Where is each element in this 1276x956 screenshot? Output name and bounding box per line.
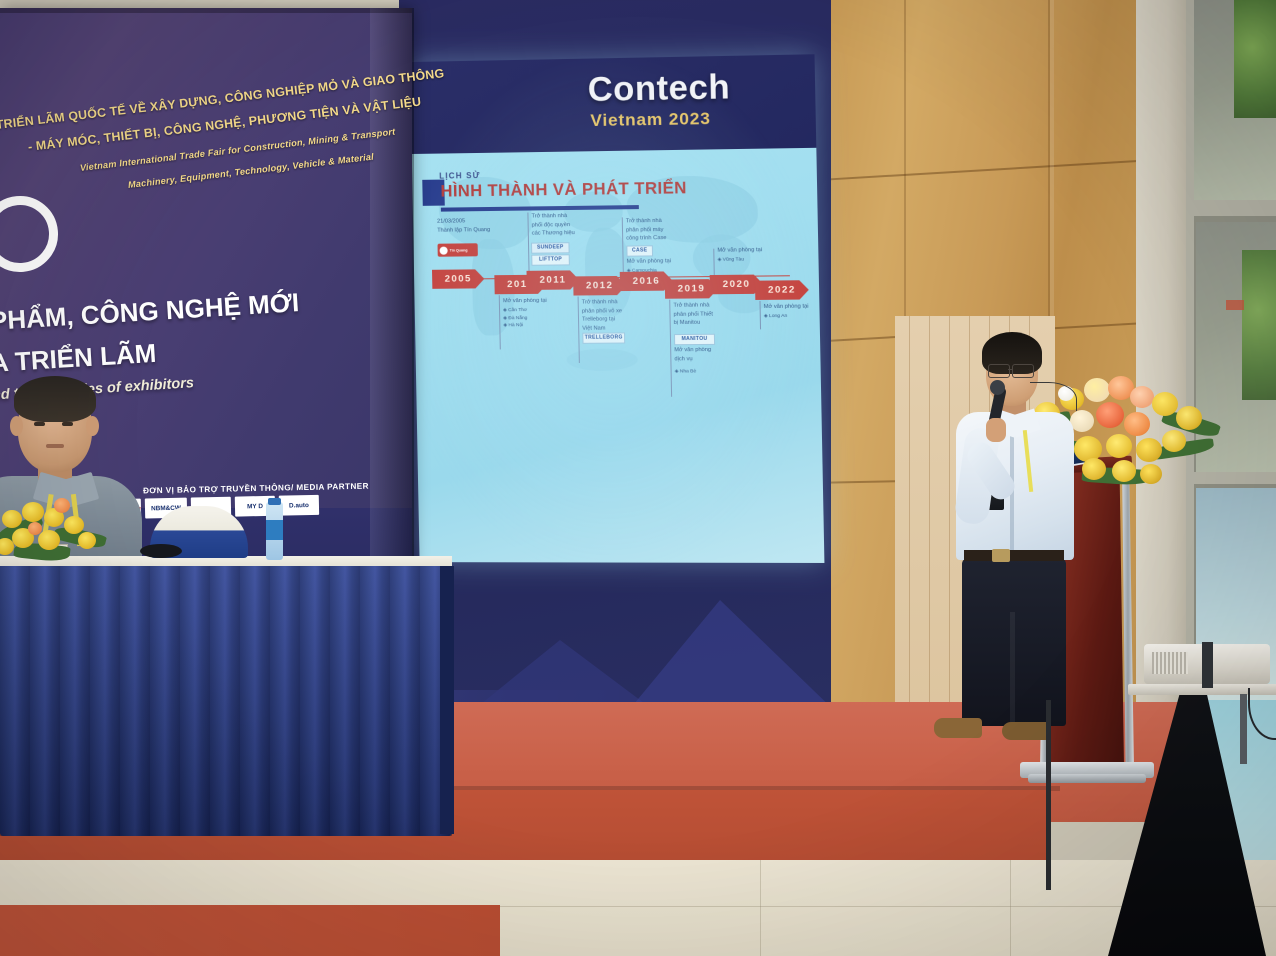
slide-eyebrow: LỊCH SỬ — [439, 171, 481, 181]
timeline-note-2020: Mở văn phòng tại — [717, 246, 762, 255]
table-flower-arrangement — [0, 494, 120, 564]
computer-mouse — [140, 544, 182, 558]
timeline-bullets-2020: ◈ Vũng Tàu — [718, 256, 745, 264]
podium-rail-right — [1122, 466, 1134, 770]
timeline-bullets-2010: ◈ Cần Thơ ◈ Đà Nẵng ◈ Hà Nội — [503, 307, 528, 330]
microphone-head — [990, 380, 1005, 395]
timeline-chip-2011: 2011 — [527, 270, 580, 290]
projector-vent — [1152, 652, 1188, 674]
speaker-eyeglass-left — [988, 364, 1010, 378]
sponsor-logo: D.auto — [279, 495, 319, 516]
timeline-note-2011: Trở thành nhà phối độc quyền các Thương … — [531, 212, 574, 239]
speaker-eyeglass-right — [1012, 364, 1034, 378]
projector-stand-pole — [1240, 694, 1247, 764]
timeline-note-2005: 21/03/2005 Thành lập Tín Quang — [437, 217, 490, 235]
water-bottle-label — [266, 520, 283, 540]
timeline-bullets-2022: ◈ Long An — [764, 313, 787, 321]
timeline-brand-2016: CASE — [626, 245, 653, 256]
seated-panelist-ear-left — [10, 416, 23, 436]
timeline-logo-2005: Tín Quang — [438, 243, 478, 256]
speaker-eyeglass-bridge — [1008, 369, 1013, 370]
conference-photo-scene: Contech Vietnam 2023 LỊCH SỬ HÌNH THÀNH … — [0, 0, 1276, 956]
history-timeline: 21/03/2005 Thành lập Tín Quang Tín Quang… — [413, 207, 825, 563]
speaker-hand — [986, 418, 1006, 442]
speaker-presenter — [930, 332, 1058, 760]
timeline-chip-2012: 2012 — [573, 276, 626, 296]
timeline-note2-2016: Mở văn phòng tại — [627, 257, 672, 266]
seated-panelist-hair — [14, 376, 96, 422]
speaker-belt-buckle — [992, 549, 1010, 562]
seated-panelist-eye-right — [62, 422, 73, 426]
timeline-note-2016: Trở thành nhà phân phối máy công trình C… — [626, 217, 667, 244]
timeline-note-2022: Mở văn phòng tại — [764, 303, 809, 312]
speaker-shoe-left — [934, 718, 982, 738]
panel-table-skirt-shading — [0, 566, 452, 836]
projector-strap — [1202, 642, 1213, 688]
slide-title: HÌNH THÀNH VÀ PHÁT TRIỂN — [440, 179, 687, 201]
panel-table-skirt-side — [440, 566, 454, 834]
timeline-chip-2022: 2022 — [755, 280, 809, 300]
timeline-bullets-2019: ◈ Nha Bè — [675, 368, 697, 376]
projector-unit — [1144, 640, 1276, 692]
timeline-logo-2005-text: Tín Quang — [450, 248, 468, 252]
wall-pillar — [1136, 0, 1188, 720]
seated-panelist-eye-left — [34, 422, 45, 426]
seated-panelist-mouth — [46, 444, 64, 448]
speaker-leg-separation — [1010, 612, 1015, 724]
floor-red-carpet — [0, 905, 500, 956]
banner-fold-shadow — [370, 8, 414, 568]
slide-brand-title: Contech — [587, 68, 730, 110]
timeline-note-2019: Trở thành nhà phân phối Thiết bị Manitou — [673, 301, 713, 328]
seated-panelist-ear-right — [86, 416, 99, 436]
speaker-belt — [964, 550, 1064, 561]
timeline-note-2010: Mở văn phòng tại — [503, 297, 547, 306]
projected-slide: Contech Vietnam 2023 LỊCH SỬ HÌNH THÀNH … — [410, 54, 824, 563]
timeline-brand-2011-b: LIFTTOP — [531, 254, 570, 265]
timeline-chip-2005: 2005 — [432, 269, 485, 289]
speaker-shoe-right — [1002, 722, 1050, 740]
slide-brand-subtitle: Vietnam 2023 — [590, 109, 711, 131]
timeline-note2-2019: Mở văn phòng dịch vụ — [674, 346, 711, 364]
timeline-brand-2011-a: SUNDEEP — [531, 242, 570, 253]
equipment-pole — [1046, 700, 1051, 890]
timeline-brand-2019: MANITOU — [674, 334, 715, 345]
timeline-brand-2012: TRELLEBORG — [582, 332, 625, 343]
water-bottle-cap — [268, 498, 281, 505]
banner-crease — [0, 8, 412, 13]
timeline-note-2012: Trở thành nhà phân phối vỏ xe Trelleborg… — [582, 298, 623, 333]
window-wall — [1186, 0, 1276, 700]
